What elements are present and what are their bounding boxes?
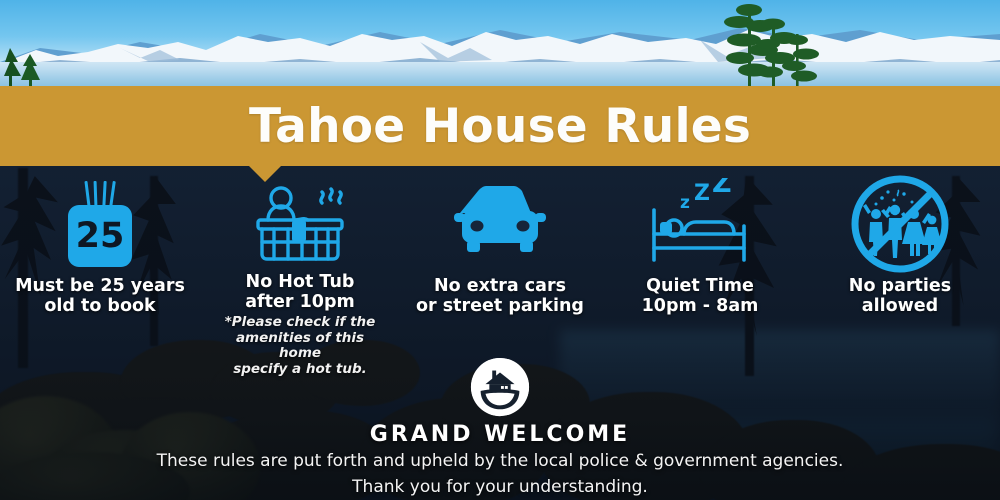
cake-candle-icon (102, 181, 106, 207)
rule-label-quiet-time: Quiet Time 10pm - 8am (642, 276, 759, 316)
rules-row: 25 Must be 25 years old to book (0, 176, 1000, 336)
cake-age-number: 25 (76, 219, 125, 254)
footer-line-2: Thank you for your understanding. (0, 474, 1000, 500)
hot-tub-svg (248, 176, 352, 268)
sleep-z-small: z (680, 193, 690, 213)
no-parties-icon (800, 176, 1000, 272)
page-title: Tahoe House Rules (249, 99, 751, 154)
cake-candle-icon (84, 181, 90, 207)
rule-label-no-parties: No parties allowed (849, 276, 951, 316)
bed-sleep-svg: z Z Z (644, 178, 756, 270)
cake-candle-icon (109, 181, 116, 207)
footer-disclaimer: These rules are put forth and upheld by … (0, 448, 1000, 500)
rule-item-parking: No extra cars or street parking (400, 176, 600, 336)
title-band: Tahoe House Rules (0, 86, 1000, 166)
rule-label-parking: No extra cars or street parking (416, 276, 584, 316)
house-rules-poster: Tahoe House Rules 25 Must be 25 years ol… (0, 0, 1000, 500)
rule-label-hot-tub: No Hot Tub after 10pm (245, 272, 355, 312)
tahoe-banner-photo (0, 0, 1000, 86)
banner-pine-left-icon (0, 46, 42, 86)
footer-line-1: These rules are put forth and upheld by … (0, 448, 1000, 474)
grand-welcome-house-logo-icon (469, 356, 531, 418)
no-parties-svg (848, 174, 952, 274)
rule-label-age: Must be 25 years old to book (15, 276, 185, 316)
birthday-cake-icon: 25 (0, 176, 200, 272)
sleep-z-medium: Z (694, 181, 710, 206)
rule-item-hot-tub: No Hot Tub after 10pm *Please check if t… (200, 176, 400, 336)
car-front-svg (448, 183, 552, 265)
cake-candle-icon (94, 181, 98, 207)
rule-item-age: 25 Must be 25 years old to book (0, 176, 200, 336)
rule-item-no-parties: No parties allowed (800, 176, 1000, 336)
banner-pine-right-icon (700, 0, 860, 86)
car-front-icon (400, 176, 600, 272)
rule-item-quiet-time: z Z Z (600, 176, 800, 336)
brand-block: GRAND WELCOME (0, 356, 1000, 447)
cake-body: 25 (68, 205, 132, 267)
hot-tub-icon (200, 176, 400, 268)
bed-sleep-icon: z Z Z (600, 176, 800, 272)
brand-name: GRAND WELCOME (370, 422, 630, 447)
sleep-z-large: Z (712, 178, 732, 199)
